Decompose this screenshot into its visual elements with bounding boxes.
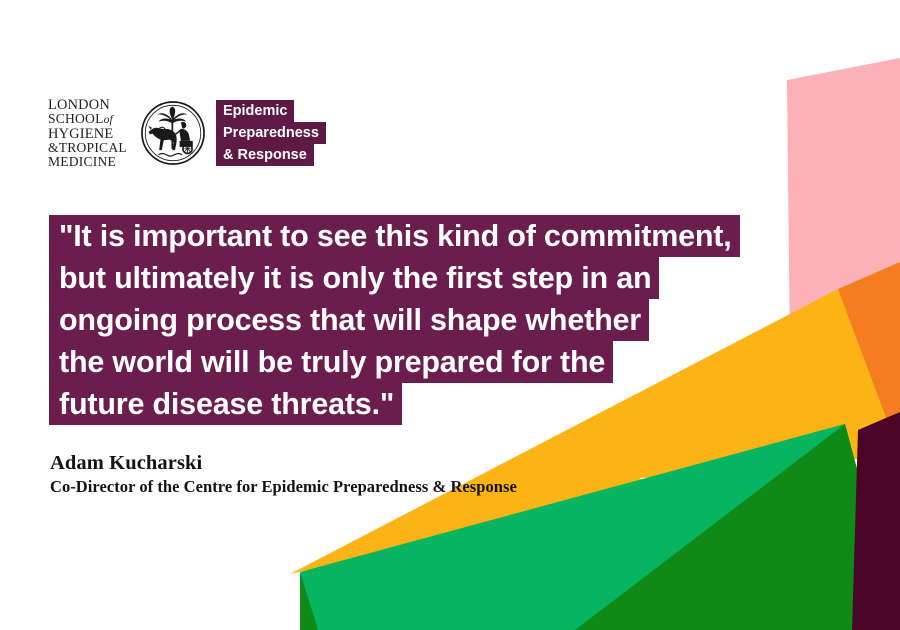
attribution-name: Adam Kucharski [50, 450, 517, 476]
quote-line-2: but ultimately it is only the first step… [49, 257, 659, 299]
lshtm-wordmark-line-5: MEDICINE [48, 155, 134, 169]
lshtm-wordmark-line-1: LONDON [48, 98, 134, 112]
dark-plum-shape [850, 415, 900, 630]
lshtm-crest-icon [140, 100, 206, 166]
dark-plum-overlay [852, 412, 900, 630]
lshtm-wordmark-of: of [104, 114, 113, 126]
attribution-role: Co-Director of the Centre for Epidemic P… [50, 476, 517, 498]
quote-line-3: ongoing process that will shape whether [49, 299, 649, 341]
pink-shape [787, 58, 900, 392]
epidemic-preparedness-response-badge: Epidemic Preparedness & Response [216, 100, 334, 166]
quote-attribution: Adam Kucharski Co-Director of the Centre… [50, 450, 517, 498]
lshtm-wordmark-line-3: HYGIENE [48, 127, 134, 141]
dark-green-overlay [575, 424, 900, 630]
badge-line-preparedness: Preparedness [216, 122, 326, 144]
lshtm-wordmark-line-2: SCHOOLof [48, 112, 134, 127]
orange-shape [782, 262, 900, 455]
brand-lockup: LONDON SCHOOLof HYGIENE &TROPICAL MEDICI… [48, 92, 334, 174]
slide-canvas: LONDON SCHOOLof HYGIENE &TROPICAL MEDICI… [0, 0, 900, 630]
pull-quote: "It is important to see this kind of com… [49, 215, 789, 425]
quote-line-1: "It is important to see this kind of com… [49, 215, 740, 257]
badge-line-response: & Response [216, 144, 314, 166]
quote-line-5: future disease threats." [49, 383, 402, 425]
quote-line-4: the world will be truly prepared for the [49, 341, 613, 383]
badge-line-epidemic: Epidemic [216, 100, 294, 122]
lshtm-wordmark: LONDON SCHOOLof HYGIENE &TROPICAL MEDICI… [48, 98, 134, 169]
lshtm-wordmark-line-4: &TROPICAL [48, 141, 134, 155]
lshtm-wordmark-line-2-main: SCHOOL [48, 111, 104, 126]
